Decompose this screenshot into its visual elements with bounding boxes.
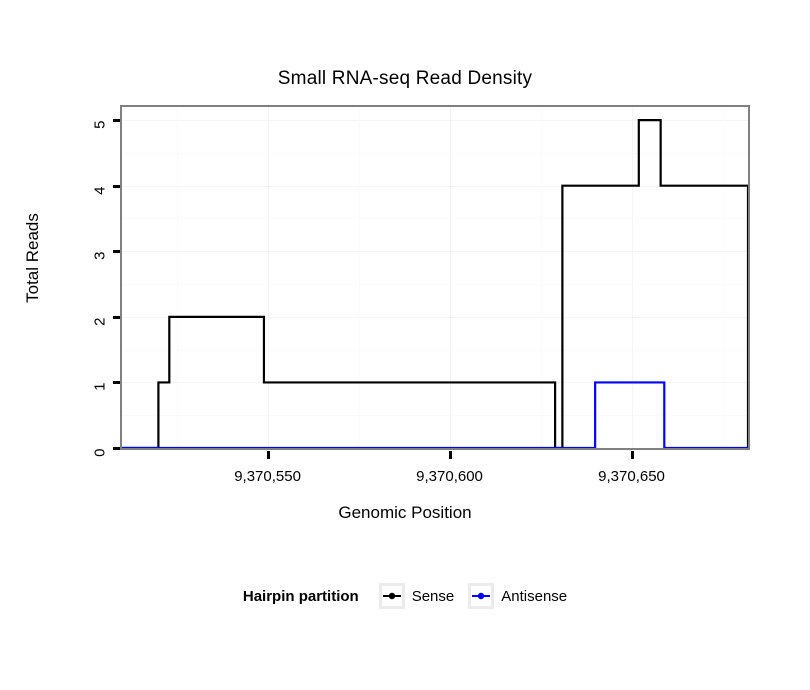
series-line-antisense: [122, 382, 748, 448]
x-tick-label: 9,370,600: [380, 468, 520, 485]
legend-key-glyph: [382, 586, 402, 606]
legend-title: Hairpin partition: [243, 588, 359, 605]
y-tick-mark: [113, 250, 120, 253]
y-tick-mark: [113, 119, 120, 122]
x-tick-mark: [449, 451, 452, 459]
x-tick-mark: [631, 451, 634, 459]
legend-item-label: Antisense: [501, 588, 567, 605]
y-tick-label: 2: [92, 317, 109, 357]
y-tick-mark: [113, 381, 120, 384]
y-tick-label: 0: [92, 449, 109, 489]
plot-panel: [120, 105, 750, 450]
legend-key-swatch: [468, 583, 494, 609]
legend-item-sense[interactable]: Sense: [379, 583, 455, 609]
plot-area: [122, 107, 748, 448]
y-tick-label: 3: [92, 252, 109, 292]
legend-key-swatch: [379, 583, 405, 609]
legend-item-antisense[interactable]: Antisense: [468, 583, 567, 609]
x-tick-label: 9,370,550: [198, 468, 338, 485]
x-tick-mark: [267, 451, 270, 459]
series-lines: [122, 107, 748, 448]
chart-container: Small RNA-seq Read Density Total Reads 0…: [0, 0, 810, 690]
x-axis-title: Genomic Position: [0, 503, 810, 523]
x-tick-label: 9,370,650: [562, 468, 702, 485]
y-tick-label: 4: [92, 186, 109, 226]
legend-item-label: Sense: [412, 588, 455, 605]
legend: Hairpin partition SenseAntisense: [0, 583, 810, 609]
legend-items: SenseAntisense: [379, 583, 567, 609]
y-axis-title: Total Reads: [23, 178, 43, 338]
y-tick-label: 5: [92, 121, 109, 161]
legend-key-glyph: [471, 586, 491, 606]
page-title: Small RNA-seq Read Density: [0, 68, 810, 90]
y-tick-label: 1: [92, 383, 109, 423]
y-tick-mark: [113, 447, 120, 450]
series-line-sense: [122, 120, 748, 448]
y-tick-mark: [113, 316, 120, 319]
y-tick-mark: [113, 185, 120, 188]
